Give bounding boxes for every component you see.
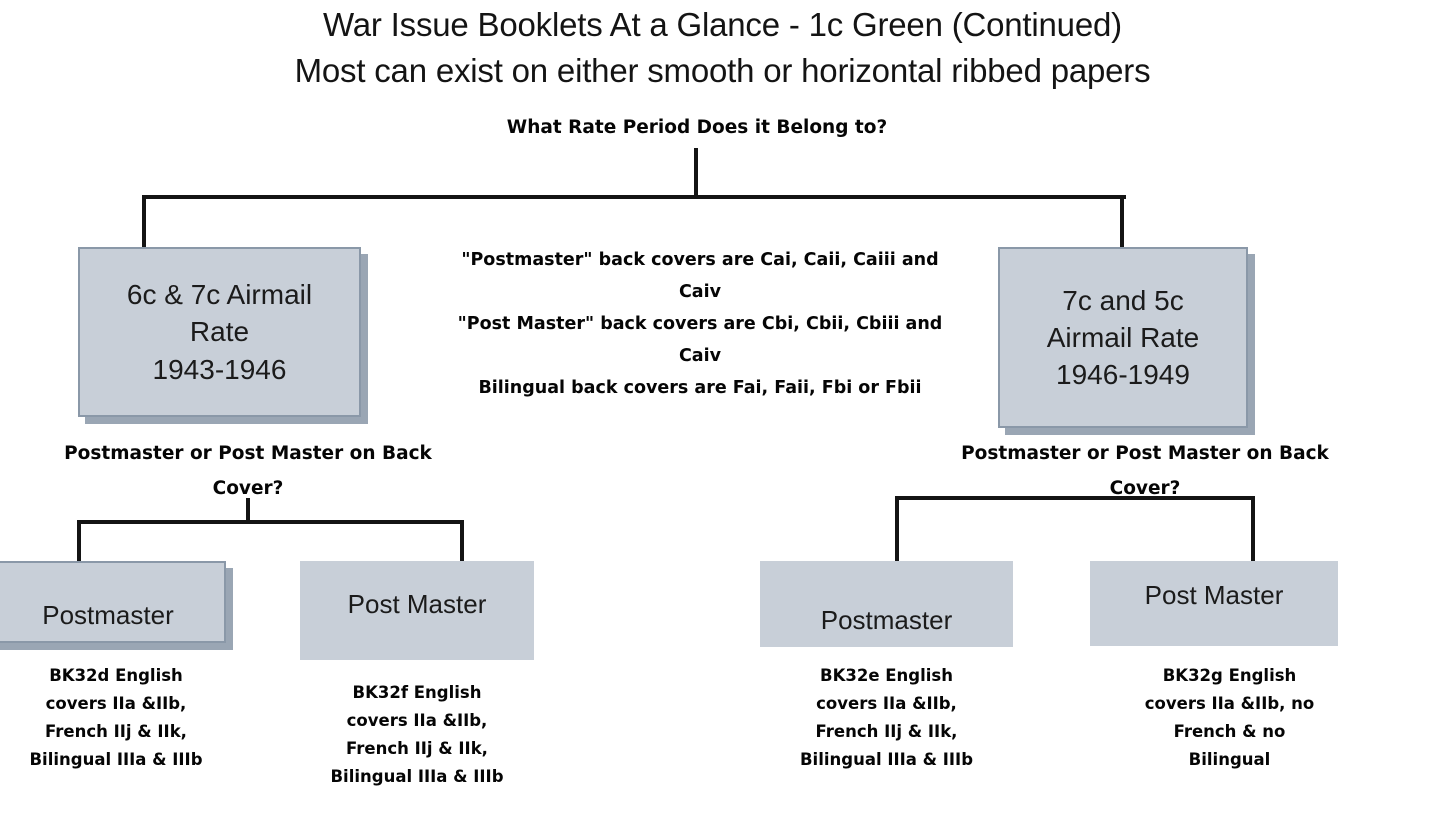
leaf-caption-bk32f-line-1: BK32f English (300, 679, 534, 707)
leaf-caption-bk32f: BK32f English covers IIa &IIb, French II… (300, 679, 534, 791)
leaf-caption-bk32f-line-3: French IIj & IIk, (300, 735, 534, 763)
branch-question-right-line-1: Postmaster or Post Master on Back (895, 436, 1395, 471)
leaf-caption-bk32e: BK32e English covers IIa &IIb, French II… (764, 662, 1009, 774)
leaf-caption-bk32g: BK32g English covers IIa &IIb, no French… (1108, 662, 1351, 774)
leaf-box-bk32g-label: Post Master (1145, 578, 1284, 613)
middle-note-line-3: "Post Master" back covers are Cbi, Cbii,… (415, 308, 985, 340)
leaf-caption-bk32g-line-1: BK32g English (1108, 662, 1351, 690)
leaf-caption-bk32e-line-1: BK32e English (764, 662, 1009, 690)
rate-node-right-line-1: 7c and 5c (1047, 282, 1199, 319)
branch-question-left: Postmaster or Post Master on Back Cover? (0, 436, 498, 506)
middle-note-line-1: "Postmaster" back covers are Cai, Caii, … (415, 244, 985, 276)
leaf-caption-bk32d-line-1: BK32d English (0, 662, 232, 690)
connector-left-branch-bar (77, 520, 464, 524)
chart-title-line-2: Most can exist on either smooth or horiz… (0, 48, 1445, 94)
leaf-box-bk32f-label: Post Master (348, 587, 487, 622)
middle-note-line-2: Caiv (415, 276, 985, 308)
leaf-caption-bk32e-line-2: covers IIa &IIb, (764, 690, 1009, 718)
rate-node-right-line-3: 1946-1949 (1047, 356, 1199, 393)
leaf-caption-bk32f-line-2: covers IIa &IIb, (300, 707, 534, 735)
connector-root-bar (142, 195, 1126, 199)
leaf-box-bk32d-label: Postmaster (42, 598, 174, 633)
leaf-caption-bk32g-line-2: covers IIa &IIb, no (1108, 690, 1351, 718)
rate-node-right[interactable]: 7c and 5c Airmail Rate 1946-1949 (998, 247, 1248, 428)
leaf-box-bk32e-label: Postmaster (821, 603, 953, 638)
connector-root-drop-right (1120, 195, 1124, 249)
middle-note: "Postmaster" back covers are Cai, Caii, … (415, 244, 985, 404)
connector-right-branch-drop-2 (1251, 496, 1255, 562)
rate-node-left-line-3: 1943-1946 (127, 351, 312, 388)
leaf-caption-bk32d-line-4: Bilingual IIIa & IIIb (0, 746, 232, 774)
connector-left-branch-drop-1 (77, 520, 81, 562)
branch-question-right-line-2: Cover? (895, 471, 1395, 506)
leaf-box-bk32e[interactable]: Postmaster (760, 561, 1013, 647)
rate-node-left-line-1: 6c & 7c Airmail (127, 276, 312, 313)
leaf-caption-bk32e-line-4: Bilingual IIIa & IIIb (764, 746, 1009, 774)
rate-node-left-line-2: Rate (127, 313, 312, 350)
leaf-box-bk32g[interactable]: Post Master (1090, 561, 1338, 646)
leaf-box-bk32f[interactable]: Post Master (300, 561, 534, 660)
middle-note-line-4: Caiv (415, 340, 985, 372)
connector-root-drop-left (142, 195, 146, 249)
flowchart-canvas: War Issue Booklets At a Glance - 1c Gree… (0, 0, 1445, 813)
leaf-caption-bk32d: BK32d English covers IIa &IIb, French II… (0, 662, 232, 774)
leaf-caption-bk32g-line-4: Bilingual (1108, 746, 1351, 774)
connector-left-branch-drop-2 (460, 520, 464, 562)
connector-right-branch-drop-1 (895, 496, 899, 562)
leaf-caption-bk32g-line-3: French & no (1108, 718, 1351, 746)
connector-right-branch-bar (895, 496, 1255, 500)
branch-question-left-line-1: Postmaster or Post Master on Back (0, 436, 498, 471)
middle-note-line-5: Bilingual back covers are Fai, Faii, Fbi… (415, 372, 985, 404)
leaf-caption-bk32e-line-3: French IIj & IIk, (764, 718, 1009, 746)
leaf-caption-bk32f-line-4: Bilingual IIIa & IIIb (300, 763, 534, 791)
root-question-label: What Rate Period Does it Belong to? (447, 110, 947, 145)
rate-node-right-text: 7c and 5c Airmail Rate 1946-1949 (1047, 282, 1199, 394)
leaf-caption-bk32d-line-2: covers IIa &IIb, (0, 690, 232, 718)
rate-node-left[interactable]: 6c & 7c Airmail Rate 1943-1946 (78, 247, 361, 417)
rate-node-right-line-2: Airmail Rate (1047, 319, 1199, 356)
connector-root-stem (694, 148, 698, 199)
leaf-caption-bk32d-line-3: French IIj & IIk, (0, 718, 232, 746)
leaf-box-bk32d[interactable]: Postmaster (0, 561, 226, 643)
chart-title-line-1: War Issue Booklets At a Glance - 1c Gree… (0, 2, 1445, 48)
rate-node-left-text: 6c & 7c Airmail Rate 1943-1946 (127, 276, 312, 388)
